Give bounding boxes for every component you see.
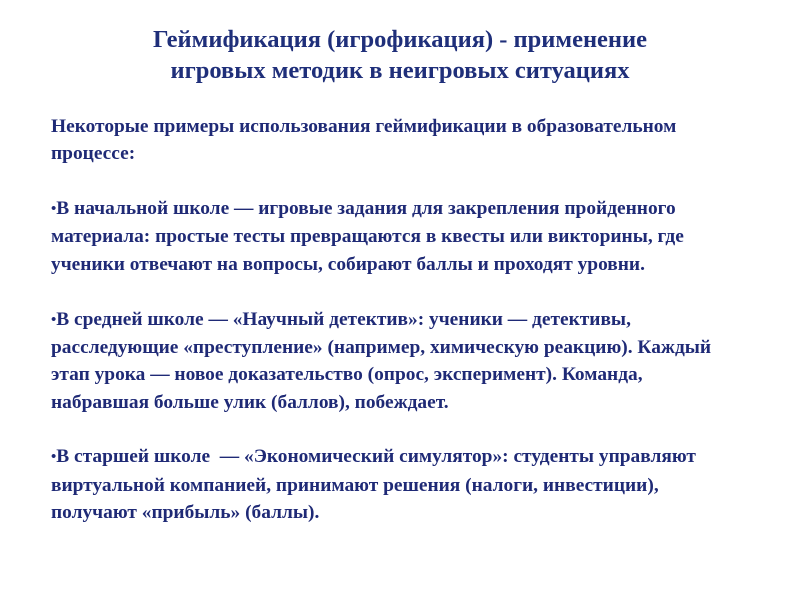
slide-title-line-1: Геймификация (игрофикация) - применение [60, 24, 740, 55]
bullet-item: •В средней школе — «Научный детектив»: у… [51, 306, 723, 416]
slide-body: Некоторые примеры использования геймифик… [51, 113, 723, 526]
slide-title: Геймификация (игрофикация) - применение … [60, 24, 740, 86]
bullet-item: •В старшей школе — «Экономический симуля… [51, 443, 723, 526]
bullet-item: •В начальной школе — игровые задания для… [51, 195, 723, 278]
intro-paragraph: Некоторые примеры использования геймифик… [51, 113, 723, 168]
presentation-slide: Геймификация (игрофикация) - применение … [0, 0, 800, 600]
bullet-item-text: В начальной школе — игровые задания для … [51, 198, 689, 275]
bullet-item-text: В средней школе — «Научный детектив»: уч… [51, 309, 716, 413]
slide-title-line-2: игровых методик в неигровых ситуациях [60, 55, 740, 86]
bullet-item-text: В старшей школе — «Экономический симулят… [51, 446, 701, 523]
